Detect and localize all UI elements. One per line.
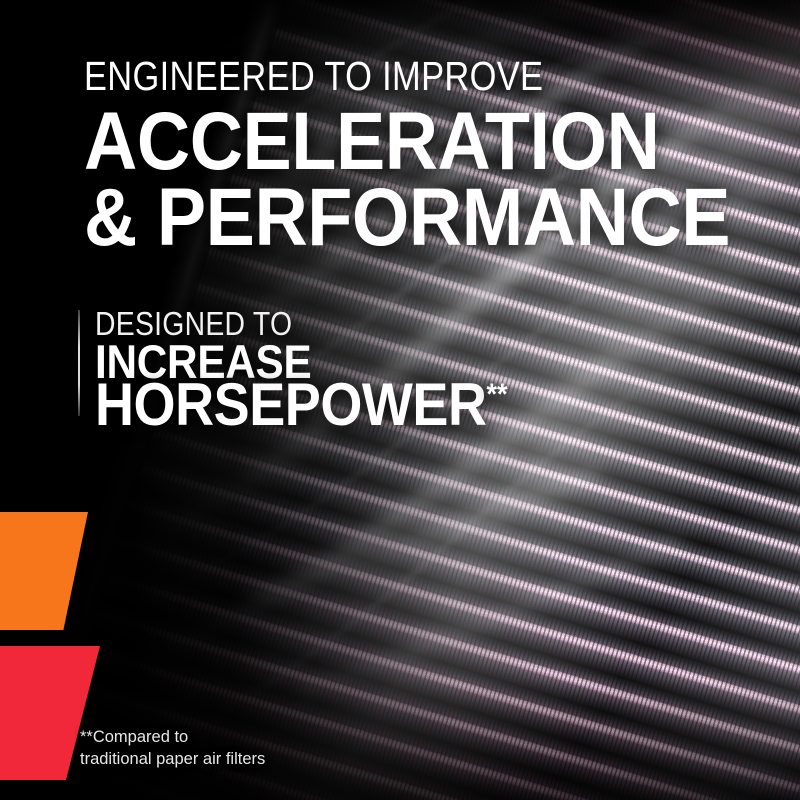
headline-line-1: ACCELERATION — [84, 104, 659, 179]
subhead-line-2-text: HORSEPOWER — [95, 371, 487, 438]
marketing-banner: ENGINEERED TO IMPROVE ACCELERATION & PER… — [0, 0, 800, 800]
headline-line-2: & PERFORMANCE — [84, 180, 730, 255]
footnote-marker: ** — [487, 378, 508, 411]
copy-layer: ENGINEERED TO IMPROVE ACCELERATION & PER… — [0, 0, 800, 800]
accent-vertical-rule — [78, 310, 80, 416]
subhead-line-2: HORSEPOWER** — [95, 375, 508, 435]
footnote-text: **Compared to traditional paper air filt… — [80, 727, 265, 771]
headline-eyebrow: ENGINEERED TO IMPROVE — [84, 56, 543, 97]
